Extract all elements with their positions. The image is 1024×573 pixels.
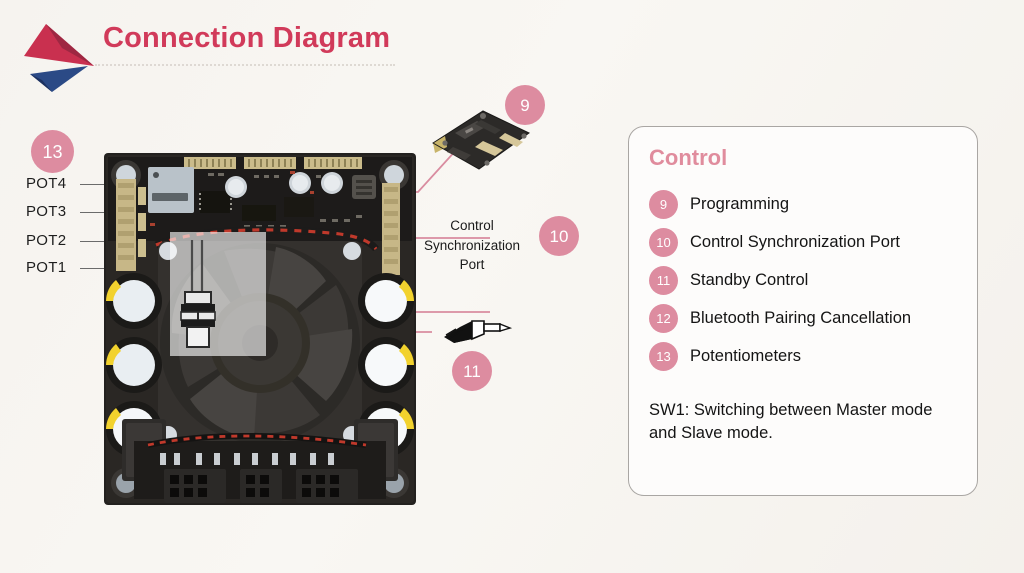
legend-item-standby[interactable]: 11 Standby Control	[649, 261, 963, 299]
panel-note: SW1: Switching between Master mode and S…	[649, 399, 955, 446]
legend-list: 9 Programming 10 Control Synchronization…	[649, 185, 963, 375]
programmer-board	[425, 103, 535, 177]
legend-item-potentiometers[interactable]: 13 Potentiometers	[649, 337, 963, 375]
legend-badge-13: 13	[649, 342, 678, 371]
control-legend-panel: Control 9 Programming 10 Control Synchro…	[628, 126, 978, 496]
legend-badge-10: 10	[649, 228, 678, 257]
legend-item-bluetooth[interactable]: 12 Bluetooth Pairing Cancellation	[649, 299, 963, 337]
sync-port-callout-line2: Synchronization	[406, 236, 538, 256]
pot4-label: POT4	[26, 175, 66, 192]
sync-port-callout-line3: Port	[406, 255, 538, 275]
slide-canvas: Connection Diagram POT4 POT3 POT2 POT1 1…	[0, 0, 1024, 573]
badge-10: 10	[539, 216, 579, 256]
pot2-label: POT2	[26, 232, 66, 249]
pairing-cancel-switch-icon	[177, 240, 219, 350]
legend-label-sync-port: Control Synchronization Port	[690, 233, 900, 252]
standby-switch-icon	[438, 313, 514, 349]
legend-label-potentiometers: Potentiometers	[690, 347, 801, 366]
legend-label-bluetooth: Bluetooth Pairing Cancellation	[690, 309, 911, 328]
brand-logo	[16, 18, 102, 98]
pot3-label: POT3	[26, 203, 66, 220]
legend-badge-9: 9	[649, 190, 678, 219]
legend-label-programming: Programming	[690, 195, 789, 214]
badge-11: 11	[452, 351, 492, 391]
legend-item-programming[interactable]: 9 Programming	[649, 185, 963, 223]
legend-badge-12: 12	[649, 304, 678, 333]
title-divider	[95, 64, 395, 66]
page-title: Connection Diagram	[103, 22, 390, 55]
legend-label-standby: Standby Control	[690, 271, 808, 290]
legend-badge-11: 11	[649, 266, 678, 295]
pot1-label: POT1	[26, 259, 66, 276]
sync-port-callout-line1: Control	[406, 216, 538, 236]
sync-port-callout: Control Synchronization Port	[406, 216, 538, 275]
badge-13: 13	[31, 130, 74, 173]
panel-title: Control	[649, 145, 727, 171]
legend-item-sync-port[interactable]: 10 Control Synchronization Port	[649, 223, 963, 261]
